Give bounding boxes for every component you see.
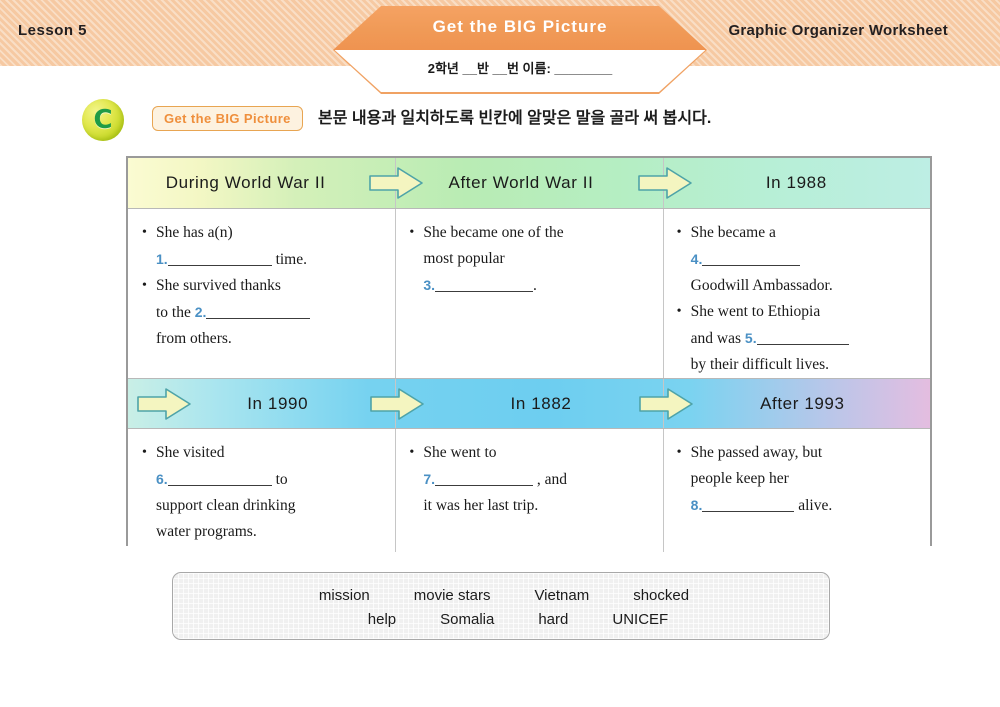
list-item: • She passed away, but people keep her 8… — [677, 440, 920, 519]
column-divider — [663, 429, 664, 552]
bullet-icon: • — [142, 440, 156, 466]
body-cell-after-wwii: • She became one of the most popular 3.. — [395, 209, 662, 386]
section-badge-c: C — [82, 99, 124, 141]
word-bank: mission movie stars Vietnam shocked help… — [172, 572, 830, 640]
organizer-body-row-2: • She visited 6. to support clean drinki… — [128, 428, 930, 552]
column-divider — [663, 209, 664, 378]
blank-number: 3. — [423, 277, 435, 293]
bullet-icon: • — [409, 440, 423, 466]
blank-number: 6. — [156, 471, 168, 487]
right-arrow-icon — [637, 165, 693, 201]
list-item: • She survived thanks to the 2. from oth… — [142, 273, 385, 352]
answer-blank[interactable] — [757, 344, 849, 345]
word-bank-row-1: mission movie stars Vietnam shocked — [173, 583, 829, 607]
blank-number: 5. — [745, 330, 757, 346]
answer-blank[interactable] — [168, 485, 272, 486]
bullet-icon: • — [677, 440, 691, 466]
section-badge-letter: C — [82, 99, 124, 141]
answer-blank[interactable] — [168, 265, 272, 266]
body-cell-in-1988: • She became a 4. Goodwill Ambassador. •… — [663, 209, 930, 386]
blank-number: 8. — [691, 497, 703, 513]
list-item-text: She has a(n) 1. time. — [156, 220, 385, 273]
answer-blank[interactable] — [435, 291, 533, 292]
bullet-icon: • — [677, 220, 691, 246]
instruction-text: 본문 내용과 일치하도록 빈칸에 알맞은 말을 골라 써 봅시다. — [318, 106, 711, 131]
word-bank-row-2: help Somalia hard UNICEF — [173, 607, 829, 631]
answer-blank[interactable] — [435, 485, 533, 486]
list-item: • She went to 7. , and it was her last t… — [409, 440, 652, 519]
word-bank-item[interactable]: Vietnam — [534, 587, 589, 604]
blank-number: 4. — [691, 251, 703, 267]
worksheet-type-label: Graphic Organizer Worksheet — [728, 22, 948, 39]
list-item: • She became a 4. Goodwill Ambassador. — [677, 220, 920, 299]
right-arrow-icon — [369, 386, 425, 422]
list-item: • She became one of the most popular 3.. — [409, 220, 652, 299]
list-item-text: She went to Ethiopia and was 5. by their… — [691, 299, 920, 378]
student-name-field[interactable]: 2학년 __반 __번 이름: ________ — [333, 58, 707, 77]
title-banner: Get the BIG Picture 2학년 __반 __번 이름: ____… — [333, 6, 707, 94]
right-arrow-icon — [136, 386, 192, 422]
organizer-header-row-1: During World War II After World War II I… — [128, 158, 930, 208]
list-item-text: She went to 7. , and it was her last tri… — [423, 440, 652, 519]
header-title: During World War II — [166, 173, 326, 193]
header-cell-after-1993: After 1993 — [663, 379, 930, 428]
body-cell-in-1990: • She visited 6. to support clean drinki… — [128, 429, 395, 553]
list-item-text: She survived thanks to the 2. from other… — [156, 273, 385, 352]
header-title: In 1990 — [247, 394, 308, 414]
bullet-icon: • — [677, 299, 691, 325]
blank-number: 2. — [195, 304, 207, 320]
body-cell-after-1993: • She passed away, but people keep her 8… — [663, 429, 930, 553]
list-item-text: She became a 4. Goodwill Ambassador. — [691, 220, 920, 299]
list-item-text: She became one of the most popular 3.. — [423, 220, 652, 299]
organizer-header-row-2: In 1990 In 1882 After 1993 — [128, 378, 930, 428]
column-divider — [395, 209, 396, 378]
list-item: • She has a(n) 1. time. — [142, 220, 385, 273]
list-item-text: She passed away, but people keep her 8. … — [691, 440, 920, 519]
activity-tag: Get the BIG Picture — [152, 106, 303, 131]
activity-tag-label: Get the BIG Picture — [164, 111, 291, 126]
bullet-icon: • — [142, 273, 156, 299]
right-arrow-icon — [638, 386, 694, 422]
bullet-icon: • — [409, 220, 423, 246]
sentence-pre: She has a(n) — [156, 224, 233, 241]
answer-blank[interactable] — [702, 511, 794, 512]
word-bank-item[interactable]: hard — [538, 611, 568, 628]
column-divider — [395, 429, 396, 552]
header-cell-in-1882: In 1882 — [395, 379, 662, 428]
word-bank-item[interactable]: shocked — [633, 587, 689, 604]
body-cell-during-wwii: • She has a(n) 1. time. • She survived t… — [128, 209, 395, 386]
list-item: • She went to Ethiopia and was 5. by the… — [677, 299, 920, 378]
blank-number: 7. — [423, 471, 435, 487]
organizer-body-row-1: • She has a(n) 1. time. • She survived t… — [128, 208, 930, 378]
blank-number: 1. — [156, 251, 168, 267]
list-item: • She visited 6. to support clean drinki… — [142, 440, 385, 545]
header-title: In 1882 — [511, 394, 572, 414]
worksheet-page: Lesson 5 Graphic Organizer Worksheet Get… — [0, 0, 1000, 707]
header-title: After 1993 — [760, 394, 844, 414]
header-cell-in-1988: In 1988 — [663, 158, 930, 208]
header-cell-after-wwii: After World War II — [395, 158, 662, 208]
right-arrow-icon — [368, 165, 424, 201]
list-item-text: She visited 6. to support clean drinking… — [156, 440, 385, 545]
banner-title: Get the BIG Picture — [333, 17, 707, 37]
word-bank-item[interactable]: mission — [319, 587, 370, 604]
word-bank-item[interactable]: Somalia — [440, 611, 494, 628]
header-title: After World War II — [449, 173, 594, 193]
word-bank-item[interactable]: help — [368, 611, 396, 628]
graphic-organizer-table: During World War II After World War II I… — [126, 156, 932, 546]
body-cell-in-1882: • She went to 7. , and it was her last t… — [395, 429, 662, 553]
lesson-label: Lesson 5 — [18, 22, 87, 39]
answer-blank[interactable] — [702, 265, 800, 266]
answer-blank[interactable] — [206, 318, 310, 319]
header-title: In 1988 — [766, 173, 827, 193]
word-bank-item[interactable]: movie stars — [414, 587, 491, 604]
bullet-icon: • — [142, 220, 156, 246]
sentence-post: time. — [272, 251, 307, 268]
word-bank-item[interactable]: UNICEF — [612, 611, 668, 628]
header-cell-during-wwii: During World War II — [128, 158, 395, 208]
